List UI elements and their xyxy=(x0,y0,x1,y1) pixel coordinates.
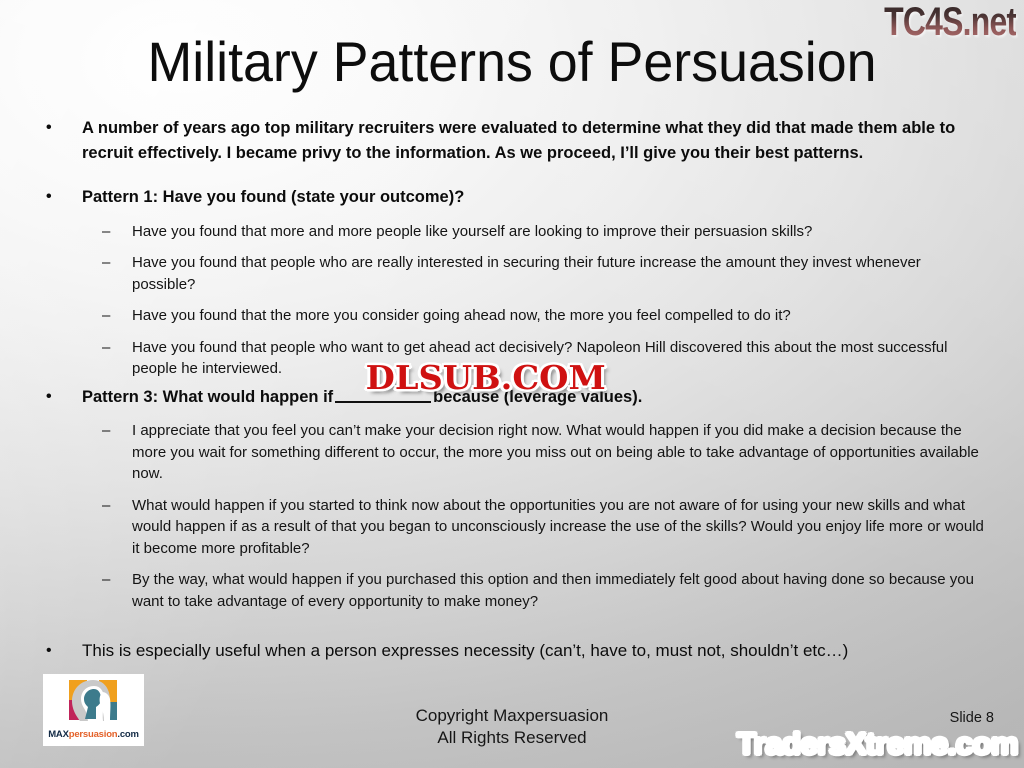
list-item: – By the way, what would happen if you p… xyxy=(36,569,988,612)
bullet-marker-icon: • xyxy=(46,385,52,410)
wordmark-max: MAX xyxy=(48,729,69,740)
slide-number: Slide 8 xyxy=(950,709,994,727)
spacer xyxy=(36,212,988,221)
dash-marker-icon: – xyxy=(102,337,110,359)
list-item-text: By the way, what would happen if you pur… xyxy=(132,571,974,610)
spacer xyxy=(36,411,988,420)
dlsub-watermark: DLSUB.COM xyxy=(366,358,606,398)
list-item-text: Have you found that the more you conside… xyxy=(132,307,791,324)
dash-marker-icon: – xyxy=(102,305,110,327)
pattern3-heading-before-text: Pattern 3: What would happen if xyxy=(82,388,333,406)
dlsub-watermark-label: DLSUB.COM xyxy=(366,358,606,397)
tc4s-watermark-label: TC4S.net xyxy=(884,0,1016,44)
dash-marker-icon: – xyxy=(102,495,110,517)
bullet-marker-icon: • xyxy=(46,639,52,664)
tradersxtreme-watermark-label: TradersXtreme.com xyxy=(737,726,1018,761)
list-item-text: Have you found that people who are reall… xyxy=(132,254,921,293)
bullet-intro-text: A number of years ago top military recru… xyxy=(82,119,955,162)
tc4s-watermark: TC4S.net xyxy=(884,2,1016,42)
bullet-marker-icon: • xyxy=(46,185,52,210)
wordmark-com: .com xyxy=(117,729,138,740)
dash-marker-icon: – xyxy=(102,252,110,274)
list-item-text: What would happen if you started to thin… xyxy=(132,497,984,557)
spacer xyxy=(36,328,988,337)
list-item: – Have you found that more and more peop… xyxy=(36,221,988,243)
slide-canvas: TC4S.net Military Patterns of Persuasion… xyxy=(0,0,1024,768)
pattern1-heading-text: Pattern 1: Have you found (state your ou… xyxy=(82,188,464,206)
spacer xyxy=(36,243,988,252)
spacer xyxy=(36,560,988,569)
spacer xyxy=(36,613,988,639)
copyright-line-1: Copyright Maxpersuasion xyxy=(0,705,1024,727)
list-item: – Have you found that people who are rea… xyxy=(36,252,988,295)
dash-marker-icon: – xyxy=(102,420,110,442)
dash-marker-icon: – xyxy=(102,221,110,243)
maxpersuasion-logo: MAXpersuasion.com xyxy=(43,674,144,746)
dash-marker-icon: – xyxy=(102,569,110,591)
list-item-text: Have you found that more and more people… xyxy=(132,223,812,240)
wordmark-persuasion: persuasion xyxy=(69,729,118,740)
spacer xyxy=(36,296,988,305)
bullet-closing-text: This is especially useful when a person … xyxy=(82,641,848,660)
maxpersuasion-wordmark: MAXpersuasion.com xyxy=(43,730,144,740)
spacer xyxy=(36,167,988,185)
spacer xyxy=(36,486,988,495)
list-item: – What would happen if you started to th… xyxy=(36,495,988,560)
bullet-intro: • A number of years ago top military rec… xyxy=(36,116,988,165)
page-title: Military Patterns of Persuasion xyxy=(20,32,1003,92)
list-item-text: I appreciate that you feel you can’t mak… xyxy=(132,422,979,482)
tradersxtreme-watermark: TradersXtreme.com xyxy=(737,726,1018,762)
bullet-closing: • This is especially useful when a perso… xyxy=(36,639,988,664)
list-item: – Have you found that the more you consi… xyxy=(36,305,988,327)
list-item: – I appreciate that you feel you can’t m… xyxy=(36,420,988,485)
keyhole-head-icon xyxy=(58,678,130,724)
bullet-marker-icon: • xyxy=(46,116,52,141)
bullet-pattern1-heading: • Pattern 1: Have you found (state your … xyxy=(36,185,988,210)
